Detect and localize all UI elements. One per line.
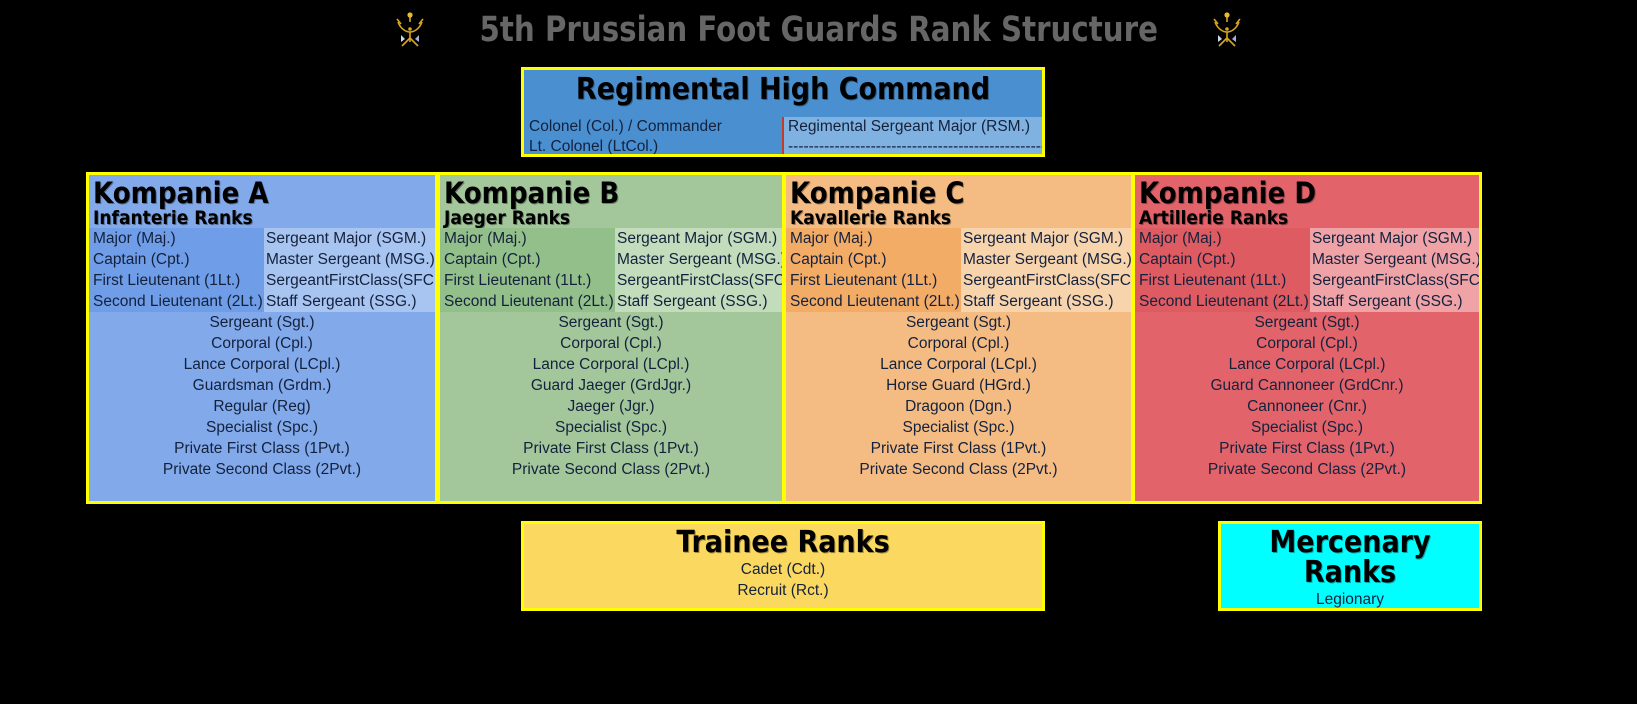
kompanie-c-enlisted: Sergeant (Sgt.) Corporal (Cpl.) Lance Co… [786, 312, 1131, 480]
rank-item: Captain (Cpt.) [1139, 249, 1310, 270]
kompanie-b-officers: Major (Maj.) Captain (Cpt.) First Lieute… [440, 228, 615, 312]
rank-item: Major (Maj.) [444, 228, 615, 249]
kompanie-a-subtitle: Infanterie Ranks [89, 208, 435, 228]
kompanie-d-officers: Major (Maj.) Captain (Cpt.) First Lieute… [1135, 228, 1310, 312]
rank-item: SergeantFirstClass(SFC.) [617, 270, 785, 291]
mercenary-ranks-list: Legionary Mercenary [1221, 588, 1479, 611]
mercenary-ranks-box: Mercenary Ranks Legionary Mercenary [1218, 521, 1482, 611]
rank-item: First Lieutenant (1Lt.) [93, 270, 264, 291]
rank-item: First Lieutenant (1Lt.) [444, 270, 615, 291]
kompanie-b-box: Kompanie B Jaeger Ranks Major (Maj.) Cap… [437, 172, 785, 504]
rank-item: Private Second Class (2Pvt.) [1135, 459, 1479, 480]
kompanie-b-name: Kompanie B [440, 175, 782, 208]
rank-item: Dragoon (Dgn.) [786, 396, 1131, 417]
rank-item: Cannoneer (Cnr.) [1135, 396, 1479, 417]
rank-item: Lance Corporal (LCpl.) [440, 354, 782, 375]
rank-item: Sergeant Major (SGM.) [266, 228, 438, 249]
rank-item: Sergeant Major (SGM.) [963, 228, 1134, 249]
rank-item: Corporal (Cpl.) [1135, 333, 1479, 354]
trainee-ranks-box: Trainee Ranks Cadet (Cdt.) Recruit (Rct.… [521, 521, 1045, 611]
rank-item: Staff Sergeant (SSG.) [1312, 291, 1482, 312]
rank-item: Legionary [1221, 589, 1479, 610]
rank-item: Private Second Class (2Pvt.) [89, 459, 435, 480]
high-command-columns: Colonel (Col.) / Commander Lt. Colonel (… [524, 117, 1042, 157]
rank-item: Mercenary [1221, 610, 1479, 611]
rank-item: Captain (Cpt.) [93, 249, 264, 270]
kompanie-d-box: Kompanie D Artillerie Ranks Major (Maj.)… [1132, 172, 1482, 504]
page-title: 5th Prussian Foot Guards Rank Structure [479, 10, 1157, 50]
kompanie-c-name: Kompanie C [786, 175, 1131, 208]
rank-item: Master Sergeant (MSG.) [617, 249, 785, 270]
rank-item: Private First Class (1Pvt.) [786, 438, 1131, 459]
rank-item: Second Lieutenant (2Lt.) [444, 291, 615, 312]
kompanie-c-box: Kompanie C Kavallerie Ranks Major (Maj.)… [783, 172, 1134, 504]
rank-item: Recruit (Rct.) [524, 580, 1042, 601]
kompanie-c-subtitle: Kavallerie Ranks [786, 208, 1131, 228]
mercenary-ranks-title: Mercenary Ranks [1221, 524, 1479, 588]
kompanie-d-name: Kompanie D [1135, 175, 1479, 208]
rank-item: Major (Maj.) [790, 228, 961, 249]
kompanie-a-box: Kompanie A Infanterie Ranks Major (Maj.)… [86, 172, 438, 504]
rank-structure-diagram: 5th Prussian Foot Guards Rank Structure … [0, 0, 1637, 704]
rank-item: Lance Corporal (LCpl.) [89, 354, 435, 375]
rank-item: SergeantFirstClass(SFC.) [1312, 270, 1482, 291]
kompanie-b-subtitle: Jaeger Ranks [440, 208, 782, 228]
rank-item: Second Lieutenant (2Lt.) [1139, 291, 1310, 312]
rank-item: Corporal (Cpl.) [89, 333, 435, 354]
rank-item: Staff Sergeant (SSG.) [266, 291, 438, 312]
rank-item: Lt. Colonel (LtCol.) [529, 137, 782, 157]
rank-item: Private Second Class (2Pvt.) [786, 459, 1131, 480]
rank-item: Horse Guard (HGrd.) [786, 375, 1131, 396]
rank-item: Specialist (Spc.) [1135, 417, 1479, 438]
kompanie-a-officer-nco-split: Major (Maj.) Captain (Cpt.) First Lieute… [89, 228, 435, 312]
kompanie-a-name: Kompanie A [89, 175, 435, 208]
rank-item: Guard Cannoneer (GrdCnr.) [1135, 375, 1479, 396]
rank-item: Specialist (Spc.) [89, 417, 435, 438]
rank-item: Private First Class (1Pvt.) [440, 438, 782, 459]
kompanie-a-enlisted: Sergeant (Sgt.) Corporal (Cpl.) Lance Co… [89, 312, 435, 480]
rank-item: Staff Sergeant (SSG.) [617, 291, 785, 312]
divider-dashes: ----------------------------------------… [788, 137, 1042, 157]
rank-item: Specialist (Spc.) [786, 417, 1131, 438]
kompanie-b-ncos: Sergeant Major (SGM.) Master Sergeant (M… [615, 228, 785, 312]
high-command-officers: Colonel (Col.) / Commander Lt. Colonel (… [524, 117, 782, 157]
rank-item: First Lieutenant (1Lt.) [1139, 270, 1310, 291]
rank-item: Sergeant Major (SGM.) [1312, 228, 1482, 249]
rank-item: Lance Corporal (LCpl.) [1135, 354, 1479, 375]
rank-item: Guardsman (Grdm.) [89, 375, 435, 396]
high-command-box: Regimental High Command Colonel (Col.) /… [521, 67, 1045, 157]
rank-item: Corporal (Cpl.) [440, 333, 782, 354]
rank-item: Specialist (Spc.) [440, 417, 782, 438]
rank-item: SergeantFirstClass(SFC.) [963, 270, 1134, 291]
kompanie-a-ncos: Sergeant Major (SGM.) Master Sergeant (M… [264, 228, 438, 312]
rank-item: Sergeant (Sgt.) [786, 312, 1131, 333]
rank-item: Sergeant (Sgt.) [440, 312, 782, 333]
rank-item: Lance Corporal (LCpl.) [786, 354, 1131, 375]
rank-item: Regular (Reg) [89, 396, 435, 417]
kompanie-b-officer-nco-split: Major (Maj.) Captain (Cpt.) First Lieute… [440, 228, 782, 312]
rank-item: Major (Maj.) [1139, 228, 1310, 249]
kompanie-b-enlisted: Sergeant (Sgt.) Corporal (Cpl.) Lance Co… [440, 312, 782, 480]
rank-item: Master Sergeant (MSG.) [266, 249, 438, 270]
rank-item: Private Second Class (2Pvt.) [440, 459, 782, 480]
rank-item: Cadet (Cdt.) [524, 559, 1042, 580]
rank-item: Master Sergeant (MSG.) [963, 249, 1134, 270]
rank-item: Corporal (Cpl.) [786, 333, 1131, 354]
kompanie-c-officer-nco-split: Major (Maj.) Captain (Cpt.) First Lieute… [786, 228, 1131, 312]
rank-item: Private First Class (1Pvt.) [89, 438, 435, 459]
high-command-senior-nco: Regimental Sergeant Major (RSM.) -------… [782, 117, 1042, 157]
rank-item: Sergeant (Sgt.) [89, 312, 435, 333]
kompanie-c-officers: Major (Maj.) Captain (Cpt.) First Lieute… [786, 228, 961, 312]
kompanie-d-enlisted: Sergeant (Sgt.) Corporal (Cpl.) Lance Co… [1135, 312, 1479, 480]
rank-item: SergeantFirstClass(SFC.) [266, 270, 438, 291]
rank-item: Master Sergeant (MSG.) [1312, 249, 1482, 270]
page-header: 5th Prussian Foot Guards Rank Structure [0, 4, 1637, 56]
kompanie-c-ncos: Sergeant Major (SGM.) Master Sergeant (M… [961, 228, 1134, 312]
kompanie-d-subtitle: Artillerie Ranks [1135, 208, 1479, 228]
rank-item: Captain (Cpt.) [790, 249, 961, 270]
high-command-title: Regimental High Command [524, 70, 1042, 105]
rank-item: Colonel (Col.) / Commander [529, 117, 782, 137]
rank-item: Guard Jaeger (GrdJgr.) [440, 375, 782, 396]
rank-item: Sergeant (Sgt.) [1135, 312, 1479, 333]
kompanie-d-ncos: Sergeant Major (SGM.) Master Sergeant (M… [1310, 228, 1482, 312]
prussian-eagle-icon-left [388, 8, 432, 52]
rank-item: Sergeant Major (SGM.) [617, 228, 785, 249]
rank-item: Second Lieutenant (2Lt.) [93, 291, 264, 312]
rank-item: First Lieutenant (1Lt.) [790, 270, 961, 291]
kompanie-a-officers: Major (Maj.) Captain (Cpt.) First Lieute… [89, 228, 264, 312]
rank-item: Jaeger (Jgr.) [440, 396, 782, 417]
rank-item: Major (Maj.) [93, 228, 264, 249]
rank-item: Private First Class (1Pvt.) [1135, 438, 1479, 459]
rank-item: Captain (Cpt.) [444, 249, 615, 270]
rank-item: Regimental Sergeant Major (RSM.) [788, 117, 1042, 137]
rank-item: Second Lieutenant (2Lt.) [790, 291, 961, 312]
trainee-ranks-list: Cadet (Cdt.) Recruit (Rct.) [524, 558, 1042, 601]
kompanie-d-officer-nco-split: Major (Maj.) Captain (Cpt.) First Lieute… [1135, 228, 1479, 312]
rank-item: Staff Sergeant (SSG.) [963, 291, 1134, 312]
prussian-eagle-icon-right [1205, 8, 1249, 52]
trainee-ranks-title: Trainee Ranks [524, 524, 1042, 558]
